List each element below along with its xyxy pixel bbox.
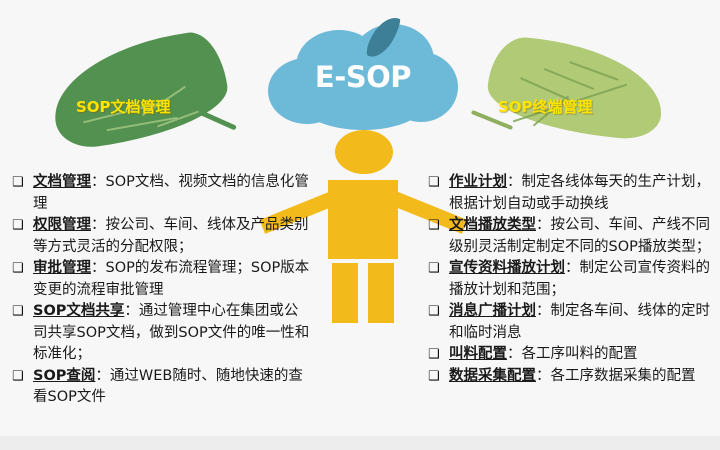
bullet-square-icon: ❑ <box>428 344 449 366</box>
left-bullet-item-lead: SOP文档共享 <box>33 303 124 319</box>
right-bullet-item-separator: ： <box>536 303 551 319</box>
left-bullet-item-text: SOP查阅：通过WEB随时、随地快速的查看SOP文件 <box>33 366 312 409</box>
left-bullet-item-separator: ： <box>91 260 106 276</box>
right-leaf-label: SOP终端管理 <box>498 96 593 117</box>
right-bullet-item-text: 文档播放类型：按公司、车间、产线不同级别灵活制定制定不同的SOP播放类型； <box>449 215 720 258</box>
left-leaf-blade <box>46 28 233 151</box>
left-bullet-item[interactable]: ❑文档管理：SOP文档、视频文档的信息化管理 <box>12 172 312 215</box>
right-bullet-item-lead: 叫料配置 <box>449 346 507 362</box>
left-bullet-item[interactable]: ❑SOP文档共享：通过管理中心在集团或公司共享SOP文档，做到SOP文件的唯一性… <box>12 301 312 366</box>
bullet-square-icon: ❑ <box>428 258 449 280</box>
bullet-square-icon: ❑ <box>428 301 449 323</box>
left-bullet-item-lead: 审批管理 <box>33 260 91 276</box>
right-bullet-item[interactable]: ❑作业计划：制定各线体每天的生产计划，根据计划自动或手动换线 <box>428 172 720 215</box>
right-bullet-item-lead: 文档播放类型 <box>449 217 536 233</box>
person-leg-left <box>332 263 358 323</box>
right-bullet-item-text: 宣传资料播放计划：制定公司宣传资料的播放计划和范围； <box>449 258 720 301</box>
left-leaf-label: SOP文档管理 <box>76 96 171 117</box>
right-bullet-item-body: 各工序数据采集的配置 <box>551 368 696 384</box>
right-bullet-item-separator: ： <box>507 174 522 190</box>
right-bullet-item[interactable]: ❑叫料配置：各工序叫料的配置 <box>428 344 720 366</box>
bullet-square-icon: ❑ <box>12 215 33 237</box>
bullet-square-icon: ❑ <box>428 172 449 194</box>
left-bullet-item-separator: ： <box>91 174 106 190</box>
left-bullet-item[interactable]: ❑SOP查阅：通过WEB随时、随地快速的查看SOP文件 <box>12 366 312 409</box>
right-bullet-item-text: 数据采集配置：各工序数据采集的配置 <box>449 366 720 388</box>
right-bullet-item[interactable]: ❑数据采集配置：各工序数据采集的配置 <box>428 366 720 388</box>
right-bullet-item-lead: 消息广播计划 <box>449 303 536 319</box>
right-bullet-item-text: 叫料配置：各工序叫料的配置 <box>449 344 720 366</box>
left-bullet-item-lead: SOP查阅 <box>33 368 95 384</box>
left-bullet-item-text: 审批管理：SOP的发布流程管理；SOP版本变更的流程审批管理 <box>33 258 312 301</box>
left-bullet-item-text: SOP文档共享：通过管理中心在集团或公司共享SOP文档，做到SOP文件的唯一性和… <box>33 301 312 366</box>
right-bullet-item-separator: ： <box>536 368 551 384</box>
left-bullet-item-separator: ： <box>124 303 139 319</box>
left-bullet-item-separator: ： <box>95 368 110 384</box>
left-bullet-item-text: 文档管理：SOP文档、视频文档的信息化管理 <box>33 172 312 215</box>
left-bullet-item-separator: ： <box>91 217 106 233</box>
bullet-square-icon: ❑ <box>428 366 449 388</box>
right-bullet-item-separator: ： <box>536 217 551 233</box>
left-bullet-item-lead: 权限管理 <box>33 217 91 233</box>
person-head <box>335 130 393 174</box>
right-bullet-item[interactable]: ❑宣传资料播放计划：制定公司宣传资料的播放计划和范围； <box>428 258 720 301</box>
bullet-square-icon: ❑ <box>12 258 33 280</box>
right-bullet-item-lead: 数据采集配置 <box>449 368 536 384</box>
person-torso <box>328 180 398 259</box>
left-bullet-item[interactable]: ❑审批管理：SOP的发布流程管理；SOP版本变更的流程审批管理 <box>12 258 312 301</box>
right-bullet-list: ❑作业计划：制定各线体每天的生产计划，根据计划自动或手动换线❑文档播放类型：按公… <box>428 172 720 387</box>
left-bullet-item[interactable]: ❑权限管理：按公司、车间、线体及产品类别等方式灵活的分配权限； <box>12 215 312 258</box>
left-bullet-item-lead: 文档管理 <box>33 174 91 190</box>
right-bullet-item-text: 作业计划：制定各线体每天的生产计划，根据计划自动或手动换线 <box>449 172 720 215</box>
right-leaf-graphic <box>470 42 670 147</box>
bullet-square-icon: ❑ <box>12 366 33 388</box>
cloud-title: E-SOP <box>268 60 458 94</box>
right-bullet-item-body: 各工序叫料的配置 <box>522 346 638 362</box>
right-bullet-item-separator: ： <box>565 260 580 276</box>
left-bullet-item-text: 权限管理：按公司、车间、线体及产品类别等方式灵活的分配权限； <box>33 215 312 258</box>
left-bullet-list: ❑文档管理：SOP文档、视频文档的信息化管理❑权限管理：按公司、车间、线体及产品… <box>12 172 312 409</box>
bullet-square-icon: ❑ <box>12 172 33 194</box>
bullet-square-icon: ❑ <box>428 215 449 237</box>
bullet-square-icon: ❑ <box>12 301 33 323</box>
cloud-graphic: E-SOP <box>268 22 458 132</box>
bottom-band <box>0 436 720 450</box>
right-bullet-item-lead: 宣传资料播放计划 <box>449 260 565 276</box>
right-bullet-item[interactable]: ❑文档播放类型：按公司、车间、产线不同级别灵活制定制定不同的SOP播放类型； <box>428 215 720 258</box>
right-bullet-item-separator: ： <box>507 346 522 362</box>
left-leaf-graphic <box>52 40 242 148</box>
right-bullet-item[interactable]: ❑消息广播计划：制定各车间、线体的定时和临时消息 <box>428 301 720 344</box>
right-bullet-item-text: 消息广播计划：制定各车间、线体的定时和临时消息 <box>449 301 720 344</box>
slide-canvas: SOP文档管理 SOP终端管理 E-SOP ❑文档管理：SOP文档、视频文档的信… <box>0 0 720 450</box>
person-leg-right <box>368 263 394 323</box>
right-bullet-item-lead: 作业计划 <box>449 174 507 190</box>
